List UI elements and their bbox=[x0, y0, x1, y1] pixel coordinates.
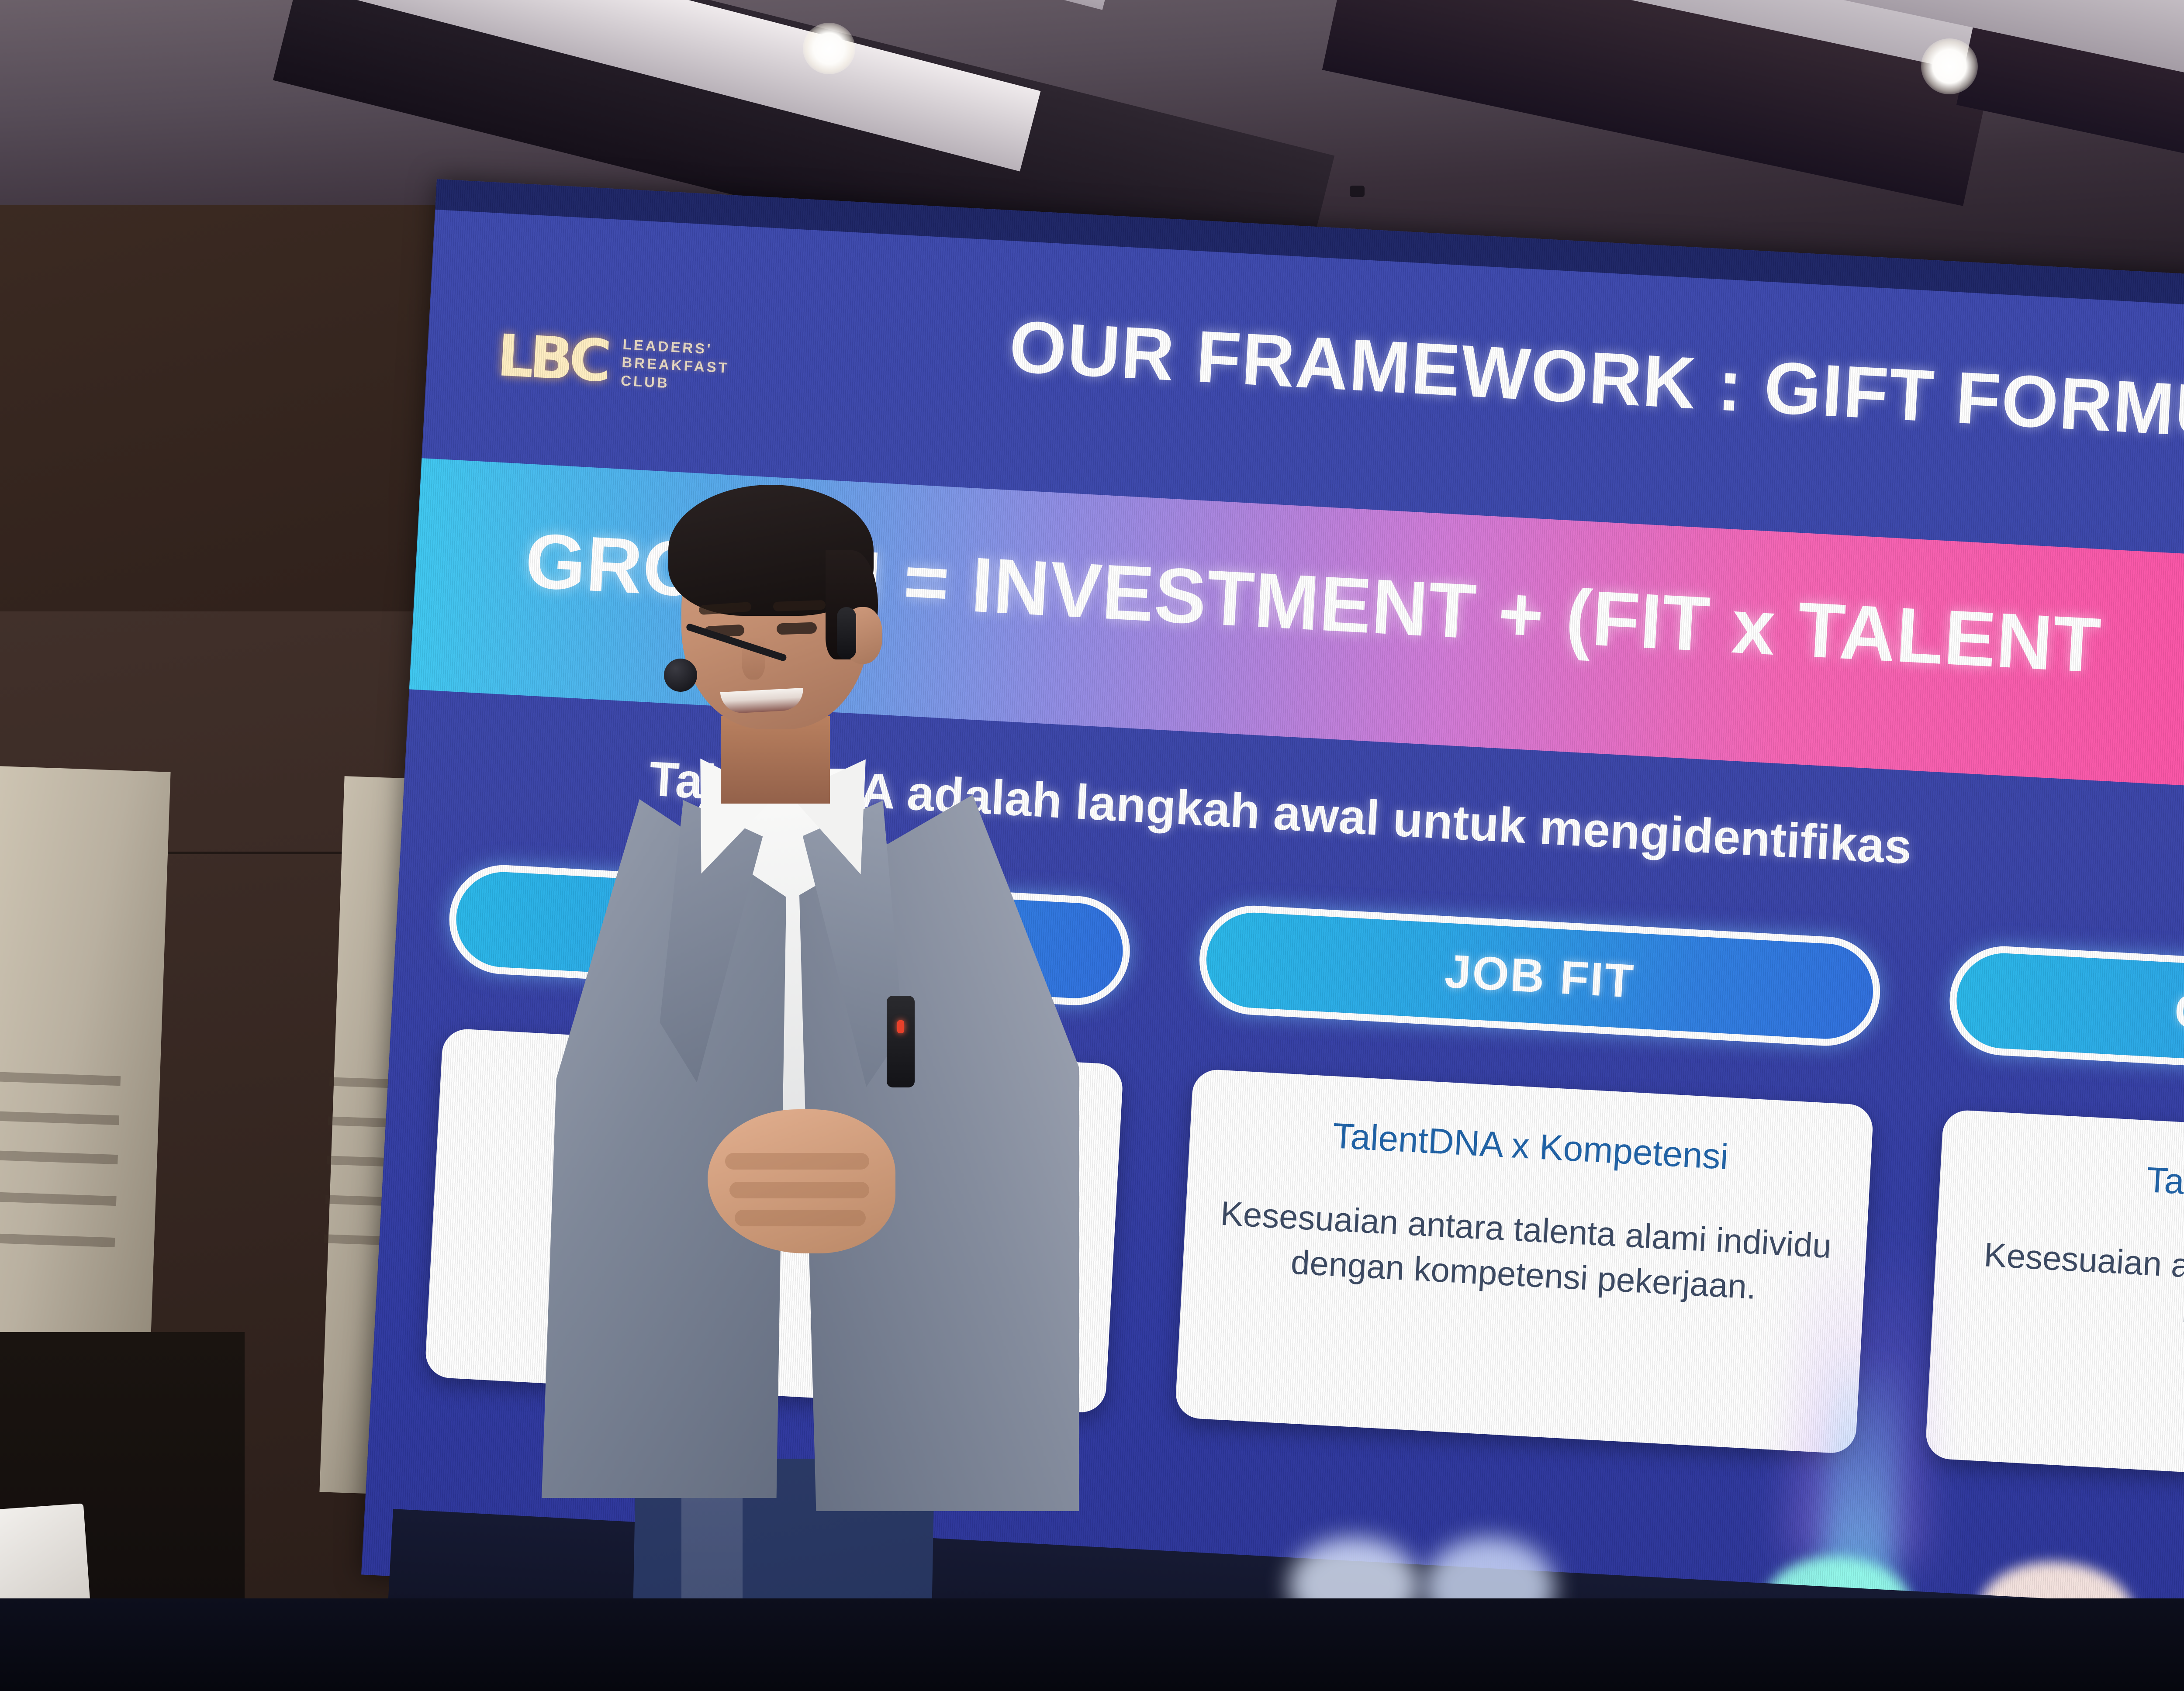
card-body-2: TalentDNA x Kompetensi Kesesuaian antara… bbox=[1175, 1069, 1874, 1454]
pill-header-3: CULTURE bbox=[1947, 943, 2184, 1089]
card-body-3: TalentDNA x Nila Kesesuaian antar alami … bbox=[1925, 1109, 2184, 1495]
lbc-wordmark: LEADERS' BREAKFAST CLUB bbox=[620, 336, 731, 394]
ceiling-downlight-icon bbox=[803, 23, 855, 74]
presentation-clicker bbox=[887, 996, 915, 1087]
card-text-3: Kesesuaian antar alami individu denga in… bbox=[1963, 1231, 2184, 1354]
ceiling-camera-icon bbox=[1350, 186, 1365, 197]
card-text-2: Kesesuaian antara talenta alami individu… bbox=[1213, 1191, 1837, 1314]
stage-scene: LBC LEADERS' BREAKFAST CLUB OUR FRAMEWOR… bbox=[0, 0, 2184, 1691]
lbc-logo: LBC LEADERS' BREAKFAST CLUB bbox=[496, 327, 731, 397]
slide-title: OUR FRAMEWORK : GIFT FORMULA bbox=[1007, 304, 2184, 460]
finger-crease bbox=[725, 1153, 869, 1170]
speaker-neck bbox=[721, 716, 830, 804]
finger-crease bbox=[729, 1182, 869, 1198]
pill-label-3: CULTURE bbox=[2173, 983, 2184, 1050]
card-heading-2: TalentDNA x Kompetensi bbox=[1220, 1109, 1841, 1184]
stage-floor bbox=[0, 1598, 2184, 1691]
fit-card-3: CULTURE TalentDNA x Nila Kesesuaian anta… bbox=[1925, 943, 2184, 1495]
mic-capsule-icon bbox=[664, 659, 697, 692]
card-heading-3: TalentDNA x Nila bbox=[1970, 1150, 2184, 1225]
speaker-eye bbox=[777, 622, 817, 635]
speaker-presenter bbox=[537, 498, 1149, 1691]
lbc-word-line-2: BREAKFAST bbox=[622, 355, 730, 376]
headset-microphone-icon bbox=[837, 607, 856, 659]
lbc-word-line-3: CLUB bbox=[620, 373, 729, 394]
ceiling-downlight-icon bbox=[1921, 38, 1978, 94]
speaker-eyebrow bbox=[773, 600, 826, 611]
clicker-led-icon bbox=[897, 1020, 904, 1033]
lbc-monogram: LBC bbox=[496, 327, 608, 390]
pill-label-2: JOB FIT bbox=[1443, 943, 1636, 1008]
finger-crease bbox=[735, 1210, 866, 1226]
pill-header-2: JOB FIT bbox=[1196, 903, 1883, 1049]
fit-card-2: JOB FIT TalentDNA x Kompetensi Kesesuaia… bbox=[1175, 903, 1883, 1454]
